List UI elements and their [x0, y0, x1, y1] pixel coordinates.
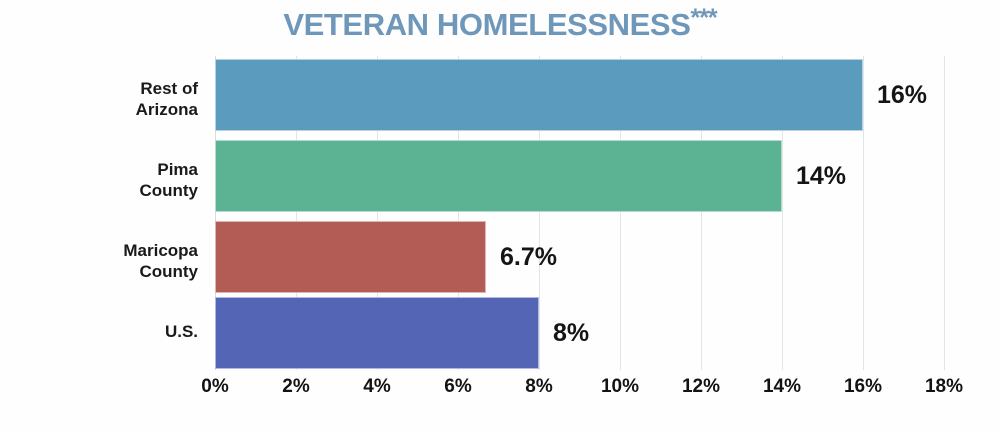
category-label-line-2: County	[0, 261, 198, 282]
category-label-line-2: Arizona	[0, 99, 198, 120]
bar-rest-of-arizona[interactable]	[215, 59, 863, 131]
xtick-label-2: 2%	[256, 376, 336, 398]
category-label-rest-of-arizona: Rest of Arizona	[0, 78, 198, 120]
xtick-label-18: 18%	[904, 376, 984, 398]
xtick-label-0: 0%	[175, 376, 255, 398]
category-label-line-1: Pima	[0, 159, 198, 180]
category-label-line-1: Rest of	[0, 78, 198, 99]
bar-value-label-maricopa-county: 6.7%	[500, 221, 557, 293]
xtick-label-8: 8%	[499, 376, 579, 398]
chart-container: VETERAN HOMELESSNESS*** Rest of Arizona …	[0, 0, 1000, 431]
plot-area: 16% 14% 6.7% 8%	[215, 56, 944, 370]
category-label-line-1: Maricopa	[0, 240, 198, 261]
bar-maricopa-county[interactable]	[215, 221, 486, 293]
category-label-us: U.S.	[0, 321, 198, 342]
category-label-line-2: County	[0, 180, 198, 201]
xtick-label-6: 6%	[418, 376, 498, 398]
category-label-maricopa-county: Maricopa County	[0, 240, 198, 282]
chart-title-footnote-asterisks: ***	[690, 4, 716, 32]
bar-value-label-rest-of-arizona: 16%	[877, 59, 927, 131]
bar-value-label-us: 8%	[553, 297, 589, 369]
bar-pima-county[interactable]	[215, 140, 782, 212]
gridline-16	[863, 56, 864, 370]
gridline-18	[944, 56, 945, 370]
xtick-label-4: 4%	[337, 376, 417, 398]
bar-value-label-pima-county: 14%	[796, 140, 846, 212]
bar-us[interactable]	[215, 297, 539, 369]
category-label-pima-county: Pima County	[0, 159, 198, 201]
xtick-label-14: 14%	[742, 376, 822, 398]
category-label-line-1: U.S.	[0, 321, 198, 342]
chart-title: VETERAN HOMELESSNESS***	[0, 4, 1000, 43]
chart-title-text: VETERAN HOMELESSNESS	[283, 7, 690, 42]
xtick-label-10: 10%	[580, 376, 660, 398]
xtick-label-12: 12%	[661, 376, 741, 398]
xtick-label-16: 16%	[823, 376, 903, 398]
